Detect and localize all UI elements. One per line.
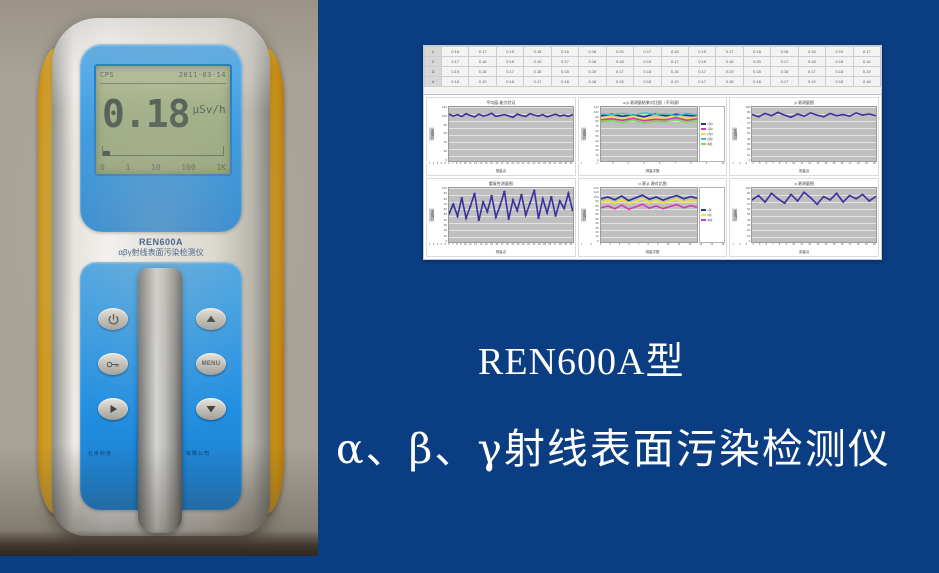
data-grid-cell: 0.19 (442, 67, 469, 77)
chart-y-tick: 60 (587, 213, 599, 216)
lcd-bargraph (102, 146, 224, 156)
data-grid-cell: 0.17 (524, 77, 551, 87)
chart-y-tick: 90 (435, 192, 447, 195)
chart-body: 计数率120100806040200 (428, 106, 574, 162)
data-grid-table: 10.180.170.190.180.160.180.200.170.180.1… (424, 46, 881, 87)
chart-y-tick: 20 (435, 150, 447, 153)
chart-plot-area (448, 187, 574, 243)
lcd-scale: 01101001K (100, 161, 226, 173)
chart-title: 平均值-能力验证 (428, 99, 574, 106)
data-grid-cell: 0.16 (661, 67, 688, 77)
play-button[interactable] (98, 398, 128, 420)
chart-y-tick: 70 (587, 125, 599, 128)
data-grid-cell: 0.17 (661, 57, 688, 67)
chart-plot-area (448, 106, 574, 162)
data-grid-cell: 0.17 (771, 77, 798, 87)
chart-legend-label: α源2 (707, 127, 713, 131)
chart-y-tick: 100 (435, 115, 447, 118)
data-grid-row: 20.170.180.180.190.170.160.180.190.170.1… (425, 57, 881, 67)
data-grid-cell: 0.18 (661, 47, 688, 57)
chart-y-ticks: 1009080706050403020100 (435, 187, 448, 243)
chart-y-tick: 90 (738, 192, 750, 195)
lcd-status-bar: CPS 2011-03-14 (100, 69, 226, 81)
data-grid-cell: 0.18 (442, 77, 469, 87)
chart-y-tick: 10 (587, 154, 599, 157)
chart-y-tick: 10 (435, 235, 447, 238)
power-button[interactable] (98, 308, 128, 330)
data-grid-cell: 0.18 (853, 77, 880, 87)
data-grid-cell: 0.17 (688, 67, 715, 77)
chart-legend-item: α源2 (701, 127, 723, 131)
data-grid-cell: 0.19 (634, 57, 661, 67)
data-grid-cell: 0.18 (469, 67, 496, 77)
data-grid-cell: 0.20 (743, 57, 770, 67)
menu-button-label: MENU (202, 361, 221, 367)
data-grid-cell: 0.19 (853, 67, 880, 77)
product-photo: CPS 2011-03-14 0.18 μSv/h 01101001K REN6… (0, 0, 318, 556)
company-text-right: 有限公司 (186, 450, 210, 457)
data-grid-cell: 0.18 (579, 77, 606, 87)
chart-y-tick: 110 (587, 191, 599, 194)
chart-x-axis-label: 测量点 (428, 249, 574, 255)
data-grid-cell: 0.19 (469, 77, 496, 87)
data-grid-row: 10.180.170.190.180.160.180.200.170.180.1… (425, 47, 881, 57)
chart-y-tick: 90 (587, 200, 599, 203)
data-grid-cell: 0.17 (551, 57, 578, 67)
data-grid-cell: 0.16 (606, 77, 633, 87)
data-grid-cell: 0.18 (442, 47, 469, 57)
chart-legend-label: β源1 (707, 132, 713, 136)
chart-legend-label: β源 (707, 213, 711, 217)
chart-legend-swatch (701, 128, 706, 131)
data-grid-cell: 0.16 (853, 57, 880, 67)
chart-legend-label: α源 (707, 208, 711, 212)
data-grid: 10.180.170.190.180.160.180.200.170.180.1… (424, 46, 881, 95)
chart-title: α 源测量图 (731, 180, 877, 187)
chart-y-tick: 90 (738, 111, 750, 114)
lcd-bargraph-fill (103, 151, 110, 156)
data-grid-cell: 0.18 (496, 77, 523, 87)
key-button[interactable] (98, 353, 128, 375)
chart-legend-item: α源 (701, 208, 723, 212)
lcd-scale-tick: 0 (100, 163, 105, 172)
chart-body: 计数率1009080706050403020100 (731, 187, 877, 243)
data-grid-cell: 0.18 (743, 67, 770, 77)
data-grid-cell: 0.17 (853, 47, 880, 57)
chart-legend-label: 本底 (707, 142, 712, 146)
device-model-cn-text: αβγ射线表面污染检测仪 (80, 248, 242, 257)
chart-x-axis-label: 测量点 (428, 168, 574, 174)
chart-legend-item: β源2 (701, 137, 723, 141)
data-grid-row-header: 2 (425, 57, 442, 67)
chart: α 源-β 源对比图计数率120110100908070605040302010… (578, 178, 728, 257)
chart-y-tick: 10 (738, 235, 750, 238)
chart-legend: α源β源本底 (699, 187, 725, 243)
chart-y-tick: 60 (738, 208, 750, 211)
data-grid-cell: 0.18 (469, 57, 496, 67)
chart-y-tick: 70 (435, 203, 447, 206)
chart: α β 源测量结果对比图（不同源）计数率11010090807060504030… (578, 97, 728, 176)
lcd-scale-tick: 100 (181, 163, 195, 172)
chart-y-ticks: 1101009080706050403020100 (587, 106, 600, 162)
chart-plot-area (751, 187, 877, 243)
chart-legend-swatch (701, 143, 706, 146)
data-grid-cell: 0.18 (579, 47, 606, 57)
chart-y-axis-label-text: 计数率 (581, 128, 586, 141)
chart-y-tick: 40 (587, 140, 599, 143)
chart-y-ticks: 120100806040200 (435, 106, 448, 162)
data-grid-cell: 0.16 (798, 47, 825, 57)
chart-x-axis-label: 测量次数 (580, 249, 726, 255)
chart-y-tick: 50 (435, 213, 447, 216)
data-grid-cell: 0.16 (579, 57, 606, 67)
chart-y-axis-label: 计数率 (428, 106, 435, 162)
chart-body: 计数率1009080706050403020100 (731, 106, 877, 162)
lcd-value: 0.18 (102, 95, 190, 133)
chart-y-tick: 100 (435, 187, 447, 190)
data-grid-cell: 0.16 (551, 47, 578, 57)
chart-y-tick: 70 (738, 203, 750, 206)
chart-y-tick: 110 (587, 106, 599, 109)
chart-y-ticks: 1201101009080706050403020100 (587, 187, 600, 243)
lcd-display: CPS 2011-03-14 0.18 μSv/h 01101001K (94, 64, 232, 176)
chart-y-tick: 60 (435, 132, 447, 135)
data-grid-cell: 0.17 (469, 47, 496, 57)
data-grid-cell: 0.19 (524, 57, 551, 67)
software-screenshot-panel: 10.180.170.190.180.160.180.200.170.180.1… (423, 45, 882, 260)
chart-y-tick: 80 (587, 120, 599, 123)
chart-y-axis-label-text: 计数率 (732, 209, 737, 222)
chart-y-tick: 50 (738, 213, 750, 216)
data-grid-cell: 0.19 (716, 67, 743, 77)
chart: 平均值-能力验证计数率12010080604020012345678910111… (426, 97, 576, 176)
chart-x-axis-label: 测量次数 (580, 168, 726, 174)
chart-y-axis-label-text: 计数率 (732, 128, 737, 141)
chart-plot-area (600, 106, 699, 162)
data-grid-cell: 0.17 (442, 57, 469, 67)
chart-y-tick: 50 (738, 132, 750, 135)
lcd-scale-tick: 1K (216, 163, 226, 172)
chart-y-tick: 40 (435, 141, 447, 144)
device-silkscreen-label: REN600A αβγ射线表面污染检测仪 (80, 237, 242, 258)
lcd-scale-tick: 10 (151, 163, 161, 172)
data-grid-cell: 0.17 (496, 67, 523, 77)
down-button[interactable] (196, 398, 226, 420)
device-model-text: REN600A (80, 237, 242, 247)
chart-y-tick: 20 (738, 148, 750, 151)
chart-plot-area (600, 187, 699, 243)
radiation-detector-device: CPS 2011-03-14 0.18 μSv/h 01101001K REN6… (36, 18, 286, 536)
data-grid-cell: 0.17 (716, 47, 743, 57)
data-grid-cell: 0.19 (579, 67, 606, 77)
chart-y-ticks: 1009080706050403020100 (738, 187, 751, 243)
page-title-model: REN600A型 (478, 330, 684, 385)
data-grid-cell: 0.18 (743, 77, 770, 87)
data-grid-cell: 0.19 (688, 47, 715, 57)
chart-y-tick: 80 (738, 198, 750, 201)
lcd-status-left: CPS (100, 71, 114, 79)
chart-y-ticks: 1009080706050403020100 (738, 106, 751, 162)
chart-body: 计数率1201101009080706050403020100α源β源本底 (580, 187, 726, 243)
data-grid-cell: 0.18 (716, 77, 743, 87)
data-grid-cell: 0.18 (826, 77, 853, 87)
chart-y-axis-label: 计数率 (428, 187, 435, 243)
chart-y-tick: 50 (587, 135, 599, 138)
data-grid-row-header: 1 (425, 47, 442, 57)
chart-y-axis-label-text: 计数率 (429, 128, 434, 141)
chart-legend-label: α源1 (707, 122, 713, 126)
data-grid-cell: 0.17 (688, 77, 715, 87)
data-grid-cell: 0.18 (634, 77, 661, 87)
chart-y-tick: 20 (435, 229, 447, 232)
chart-y-tick: 30 (587, 145, 599, 148)
chart-y-tick: 80 (435, 198, 447, 201)
charts-grid: 平均值-能力验证计数率12010080604020012345678910111… (424, 95, 881, 259)
lcd-unit: μSv/h (193, 103, 226, 116)
chart-y-tick: 20 (738, 229, 750, 232)
data-grid-cell: 0.19 (798, 77, 825, 87)
chart-y-axis-label: 计数率 (731, 106, 738, 162)
chart-y-tick: 40 (738, 219, 750, 222)
chart: α 源测量图计数率1009080706050403020100123456789… (729, 178, 879, 257)
chart-y-tick: 80 (738, 117, 750, 120)
chart-y-tick: 60 (587, 130, 599, 133)
chart-legend-swatch (701, 133, 706, 136)
data-grid-cell: 0.18 (606, 57, 633, 67)
data-grid-cell: 0.18 (551, 67, 578, 77)
chart-legend-item: 本底 (701, 218, 723, 222)
data-grid-cell: 0.18 (524, 47, 551, 57)
data-grid-cell: 0.18 (771, 67, 798, 77)
data-grid-row-header: 3 (425, 67, 442, 77)
chart-legend-item: β源1 (701, 132, 723, 136)
chart-y-axis-label: 计数率 (731, 187, 738, 243)
chart-body: 计数率1101009080706050403020100α源1α源2β源1β源2… (580, 106, 726, 162)
data-grid-cell: 0.18 (634, 67, 661, 77)
chart-legend-item: 本底 (701, 142, 723, 146)
chart-legend-item: β源 (701, 213, 723, 217)
data-grid-cell: 0.18 (688, 57, 715, 67)
chart: 重复性测量图计数率1009080706050403020100123456789… (426, 178, 576, 257)
device-handle-strap (138, 268, 182, 533)
chart-x-axis-label: 测量点 (731, 168, 877, 174)
chart-y-tick: 60 (435, 208, 447, 211)
chart-legend-label: 本底 (707, 218, 712, 222)
chart-legend-swatch (701, 138, 706, 141)
chart-y-tick: 60 (738, 127, 750, 130)
chart-title: α 源-β 源对比图 (580, 180, 726, 187)
chart-y-tick: 80 (435, 124, 447, 127)
chart-legend-swatch (701, 123, 706, 126)
chart-legend-swatch (701, 209, 706, 212)
chart: β 源测量图计数率1009080706050403020100123456789… (729, 97, 879, 176)
chart-legend-swatch (701, 219, 706, 222)
chart-y-tick: 30 (738, 224, 750, 227)
chart-x-axis-label: 测量点 (731, 249, 877, 255)
chart-y-tick: 10 (738, 154, 750, 157)
data-grid-cell: 0.17 (771, 57, 798, 67)
data-grid-cell: 0.17 (634, 47, 661, 57)
chart-legend: α源1α源2β源1β源2本底 (699, 106, 725, 162)
lcd-reading: 0.18 μSv/h (102, 86, 226, 142)
chart-y-tick: 40 (435, 219, 447, 222)
chart-legend-swatch (701, 214, 706, 217)
data-grid-row: 30.190.180.170.180.180.190.170.180.160.1… (425, 67, 881, 77)
data-grid-cell: 0.18 (716, 57, 743, 67)
up-button[interactable] (196, 308, 226, 330)
data-grid-cell: 0.19 (661, 77, 688, 87)
menu-button[interactable]: MENU (196, 353, 226, 375)
chart-y-tick: 70 (738, 122, 750, 125)
data-grid-cell: 0.19 (826, 47, 853, 57)
chart-y-tick: 100 (738, 106, 750, 109)
chart-y-axis-label: 计数率 (580, 187, 587, 243)
data-grid-cell: 0.17 (606, 67, 633, 77)
chart-body: 计数率1009080706050403020100 (428, 187, 574, 243)
chart-y-tick: 30 (435, 224, 447, 227)
data-grid-row: 40.180.190.180.170.180.180.160.180.190.1… (425, 77, 881, 87)
chart-y-tick: 20 (587, 149, 599, 152)
lcd-separator (100, 83, 226, 84)
data-grid-cell: 0.18 (496, 57, 523, 67)
chart-title: β 源测量图 (731, 99, 877, 106)
chart-y-tick: 40 (738, 138, 750, 141)
lcd-status-right: 2011-03-14 (179, 71, 226, 79)
data-grid-cell: 0.17 (798, 67, 825, 77)
data-grid-cell: 0.18 (551, 77, 578, 87)
chart-plot-area (751, 106, 877, 162)
data-grid-cell: 0.18 (798, 57, 825, 67)
chart-title: α β 源测量结果对比图（不同源） (580, 99, 726, 106)
lcd-scale-tick: 1 (125, 163, 130, 172)
chart-y-tick: 100 (738, 187, 750, 190)
chart-y-tick: 40 (587, 222, 599, 225)
data-grid-cell: 0.18 (771, 47, 798, 57)
photo-bottom-shadow (0, 530, 318, 556)
chart-y-axis-label: 计数率 (580, 106, 587, 162)
page-title-description: α、β、γ射线表面污染检测仪 (336, 415, 891, 475)
chart-y-axis-label-text: 计数率 (429, 209, 434, 222)
chart-y-tick: 90 (587, 116, 599, 119)
company-text-left: 北京科技 (88, 450, 112, 457)
chart-y-tick: 120 (435, 106, 447, 109)
data-grid-cell: 0.18 (524, 67, 551, 77)
chart-title: 重复性测量图 (428, 180, 574, 187)
data-grid-cell: 0.19 (496, 47, 523, 57)
data-grid-cell: 0.18 (743, 47, 770, 57)
chart-legend-item: α源1 (701, 122, 723, 126)
chart-y-tick: 100 (587, 111, 599, 114)
data-grid-cell: 0.18 (826, 57, 853, 67)
data-grid-cell: 0.20 (606, 47, 633, 57)
chart-y-tick: 30 (738, 143, 750, 146)
data-grid-cell: 0.18 (826, 67, 853, 77)
chart-y-axis-label-text: 计数率 (581, 209, 586, 222)
chart-legend-label: β源2 (707, 137, 713, 141)
data-grid-row-header: 4 (425, 77, 442, 87)
